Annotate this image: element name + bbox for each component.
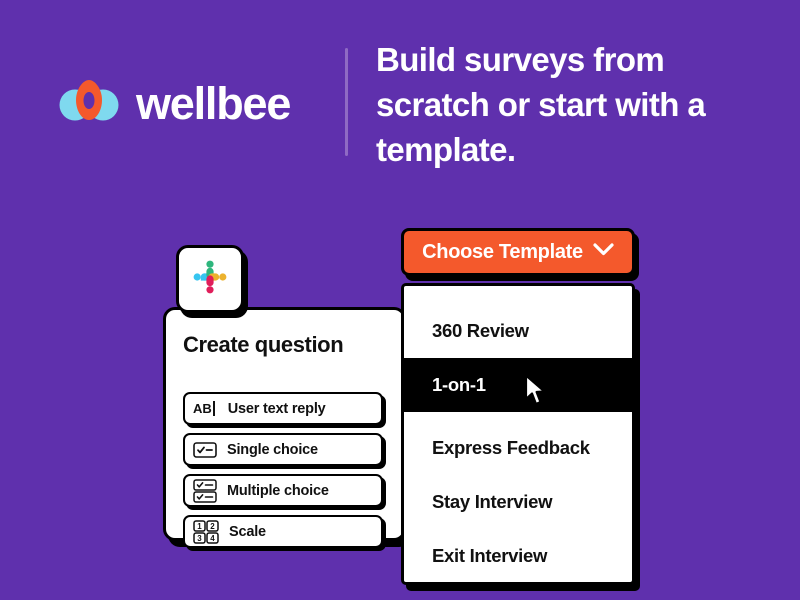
wellbee-bee-logo-icon — [58, 72, 120, 134]
svg-text:1: 1 — [197, 522, 202, 531]
question-type-user-text-reply[interactable]: AB User text reply — [183, 392, 383, 425]
chevron-down-icon — [593, 243, 614, 261]
header-divider — [345, 48, 348, 156]
question-type-multiple-choice[interactable]: Multiple choice — [183, 474, 383, 507]
template-option-express-feedback[interactable]: Express Feedback — [404, 421, 632, 475]
brand-lockup: wellbee — [58, 72, 290, 134]
choose-template-button[interactable]: Choose Template — [401, 228, 635, 276]
choose-template-label: Choose Template — [422, 241, 583, 264]
question-type-label: Multiple choice — [227, 483, 329, 499]
template-option-360-review[interactable]: 360 Review — [404, 304, 632, 358]
template-dropdown-menu: 360 Review 1-on-1 Express Feedback Stay … — [401, 283, 635, 585]
brand-wordmark: wellbee — [136, 81, 290, 126]
dropdown-spacer — [404, 412, 632, 421]
promo-canvas: wellbee Build surveys from scratch or st… — [0, 0, 800, 600]
create-question-title: Create question — [183, 332, 343, 358]
create-question-card: Create question AB User text reply Singl… — [163, 307, 406, 541]
multiple-choice-checkbox-icon — [193, 479, 217, 503]
page-title: Build surveys from scratch or start with… — [376, 38, 776, 173]
scale-number-grid-icon: 1 2 3 4 — [193, 520, 219, 544]
question-type-label: Single choice — [227, 442, 318, 458]
slack-logo-icon — [192, 259, 228, 300]
question-type-label: User text reply — [228, 401, 326, 417]
svg-text:4: 4 — [210, 534, 215, 543]
question-type-single-choice[interactable]: Single choice — [183, 433, 383, 466]
svg-text:3: 3 — [197, 534, 202, 543]
question-type-scale[interactable]: 1 2 3 4 Scale — [183, 515, 383, 548]
template-option-stay-interview[interactable]: Stay Interview — [404, 475, 632, 529]
question-type-label: Scale — [229, 524, 266, 540]
svg-text:2: 2 — [210, 522, 215, 531]
template-option-exit-interview[interactable]: Exit Interview — [404, 529, 632, 583]
slack-app-badge[interactable] — [176, 245, 244, 313]
header: wellbee Build surveys from scratch or st… — [0, 0, 800, 200]
ab-text-cursor-icon: AB — [193, 401, 218, 416]
template-option-1-on-1[interactable]: 1-on-1 — [404, 358, 632, 412]
single-choice-radio-icon — [193, 442, 217, 458]
